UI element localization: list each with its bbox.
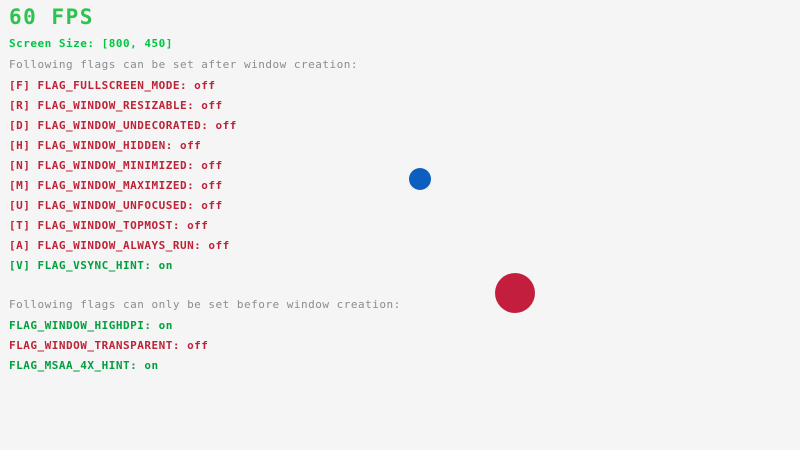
- flag-row-flag-fullscreen-mode[interactable]: [F] FLAG_FULLSCREEN_MODE: off: [9, 80, 216, 91]
- blue-ball: [409, 168, 431, 190]
- flag-row-flag-window-resizable[interactable]: [R] FLAG_WINDOW_RESIZABLE: off: [9, 100, 223, 111]
- flag-row-flag-msaa-4x-hint: FLAG_MSAA_4X_HINT: on: [9, 360, 159, 371]
- flag-row-flag-window-hidden[interactable]: [H] FLAG_WINDOW_HIDDEN: off: [9, 140, 201, 151]
- red-ball: [495, 273, 535, 313]
- fps-counter: 60 FPS: [9, 7, 94, 28]
- flag-row-flag-window-undecorated[interactable]: [D] FLAG_WINDOW_UNDECORATED: off: [9, 120, 237, 131]
- flag-row-flag-window-always-run[interactable]: [A] FLAG_WINDOW_ALWAYS_RUN: off: [9, 240, 230, 251]
- screen-size-label: Screen Size: [800, 450]: [9, 38, 173, 49]
- raylib-window-canvas[interactable]: 60 FPS Screen Size: [800, 450] Following…: [0, 0, 800, 450]
- flag-row-flag-window-minimized[interactable]: [N] FLAG_WINDOW_MINIMIZED: off: [9, 160, 223, 171]
- runtime-flags-heading: Following flags can be set after window …: [9, 59, 358, 70]
- flag-row-flag-window-transparent: FLAG_WINDOW_TRANSPARENT: off: [9, 340, 208, 351]
- flag-row-flag-window-highdpi: FLAG_WINDOW_HIGHDPI: on: [9, 320, 173, 331]
- startup-flags-heading: Following flags can only be set before w…: [9, 299, 401, 310]
- flag-row-flag-window-topmost[interactable]: [T] FLAG_WINDOW_TOPMOST: off: [9, 220, 208, 231]
- flag-row-flag-window-unfocused[interactable]: [U] FLAG_WINDOW_UNFOCUSED: off: [9, 200, 223, 211]
- flag-row-flag-vsync-hint[interactable]: [V] FLAG_VSYNC_HINT: on: [9, 260, 173, 271]
- flag-row-flag-window-maximized[interactable]: [M] FLAG_WINDOW_MAXIMIZED: off: [9, 180, 223, 191]
